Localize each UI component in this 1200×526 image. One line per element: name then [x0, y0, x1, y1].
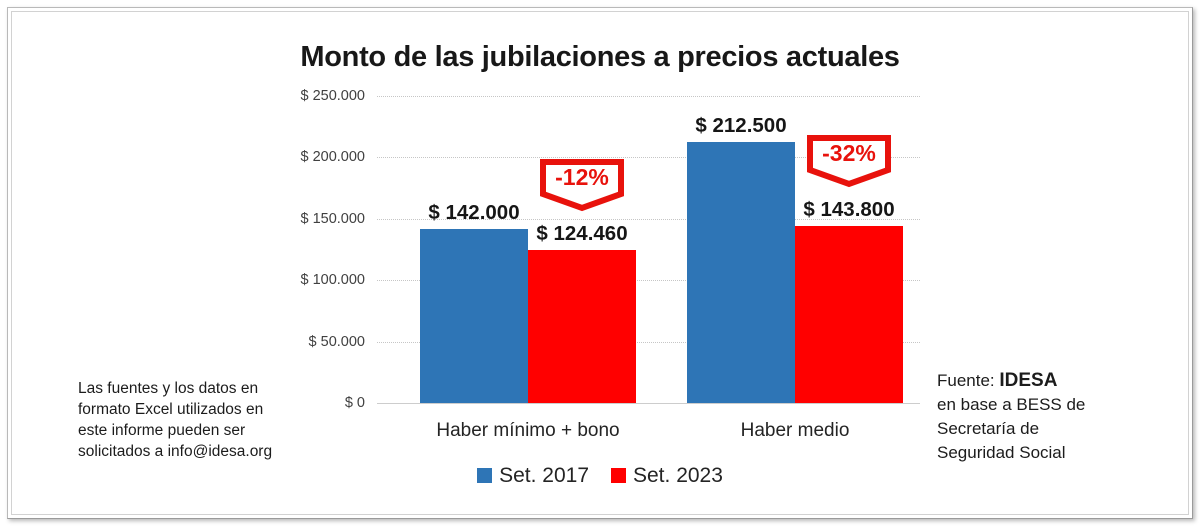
gridline	[377, 96, 920, 97]
legend-label: Set. 2023	[633, 464, 723, 487]
legend-item[interactable]: Set. 2023	[611, 464, 723, 488]
percent-change-text: -12%	[539, 158, 625, 198]
y-axis-tick-label: $ 150.000	[245, 211, 365, 227]
bar[interactable]	[420, 229, 528, 403]
source-brand: IDESA	[999, 370, 1057, 391]
source-line: Seguridad Social	[937, 441, 1177, 465]
legend-swatch	[477, 468, 492, 483]
source-lines: en base a BESS deSecretaría deSeguridad …	[937, 393, 1177, 465]
footnote-line: Las fuentes y los datos en	[78, 378, 313, 399]
bar-value-label: $ 143.800	[803, 198, 894, 222]
footnote-line: formato Excel utilizados en	[78, 399, 313, 420]
legend-swatch	[611, 468, 626, 483]
percent-change-badge: -12%	[539, 158, 625, 212]
bar[interactable]	[687, 142, 795, 403]
footnote-left: Las fuentes y los datos enformato Excel …	[78, 378, 313, 462]
footnote-line: solicitados a info@idesa.org	[78, 441, 313, 462]
bar-value-label: $ 124.460	[536, 222, 627, 246]
legend-item[interactable]: Set. 2017	[477, 464, 589, 488]
source-line: Secretaría de	[937, 417, 1177, 441]
percent-change-text: -32%	[806, 134, 892, 174]
legend-label: Set. 2017	[499, 464, 589, 487]
chart-legend: Set. 2017Set. 2023	[14, 464, 1186, 488]
percent-change-badge: -32%	[806, 134, 892, 188]
y-axis-tick-label: $ 50.000	[245, 334, 365, 350]
y-axis-tick-label: $ 200.000	[245, 149, 365, 165]
chart-canvas: Monto de las jubilaciones a precios actu…	[14, 14, 1186, 512]
footnote-line: este informe pueden ser	[78, 420, 313, 441]
bar[interactable]	[528, 250, 636, 403]
x-axis-category-label: Haber mínimo + bono	[436, 420, 619, 442]
slide-frame: Monto de las jubilaciones a precios actu…	[0, 0, 1200, 526]
y-axis-tick-label: $ 250.000	[245, 88, 365, 104]
source-note-right: Fuente: IDESA en base a BESS deSecretarí…	[937, 369, 1177, 465]
y-axis-tick-label: $ 100.000	[245, 272, 365, 288]
bar-value-label: $ 212.500	[695, 114, 786, 138]
bar-value-label: $ 142.000	[428, 201, 519, 225]
source-line: en base a BESS de	[937, 393, 1177, 417]
chart-title: Monto de las jubilaciones a precios actu…	[14, 41, 1186, 74]
gridline	[377, 403, 920, 404]
x-axis-category-label: Haber medio	[741, 420, 850, 442]
source-prefix: Fuente:	[937, 371, 999, 390]
plot-area: $ 142.000$ 124.460$ 212.500$ 143.800 -12…	[377, 96, 920, 403]
source-line-brand: Fuente: IDESA	[937, 369, 1177, 393]
bar[interactable]	[795, 226, 903, 403]
